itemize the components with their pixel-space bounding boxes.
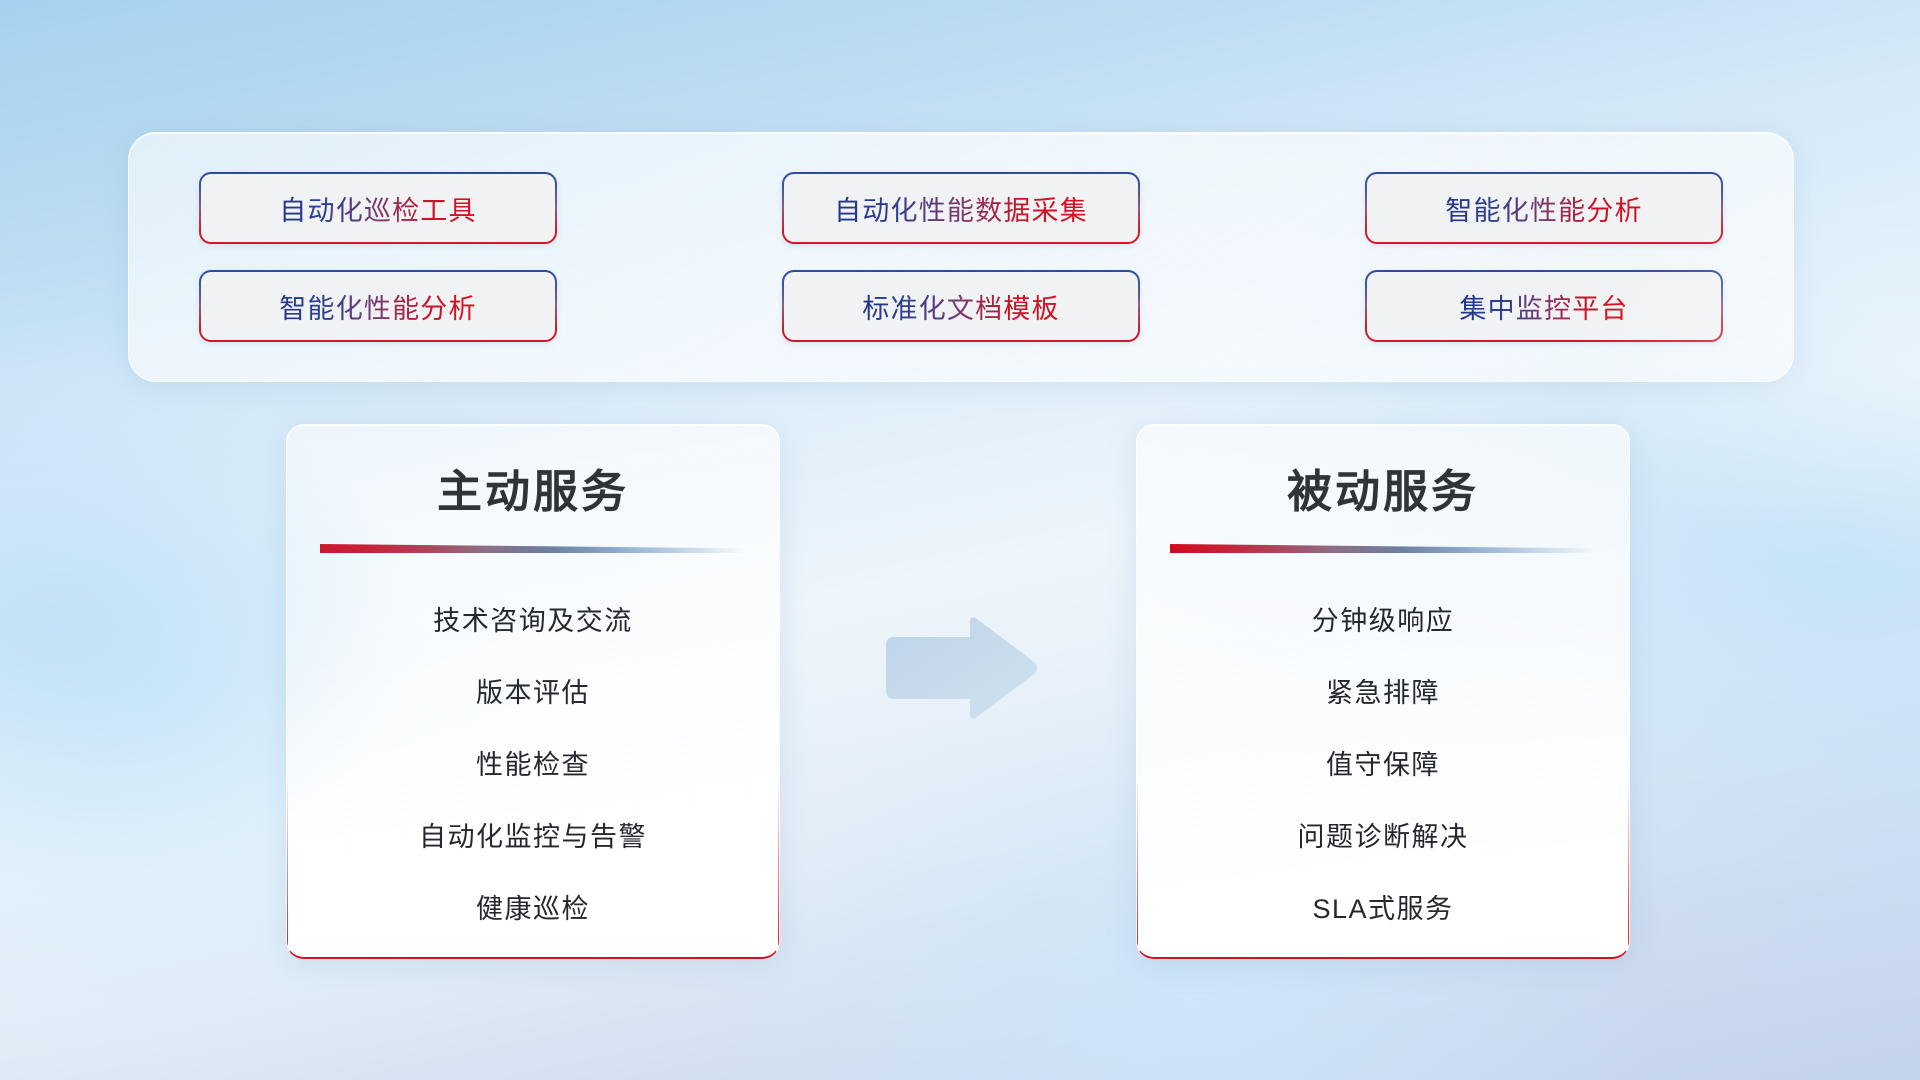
capability-pill-label: 自动化性能数据采集 (834, 189, 1088, 228)
capability-pill-label: 智能化性能分析 (1445, 189, 1642, 228)
capability-pill-inner: 自动化性能数据采集 (784, 174, 1138, 242)
service-card-title: 被动服务 (1137, 455, 1629, 520)
capability-pill-intelligent-perf-analysis-2[interactable]: 智能化性能分析 (199, 270, 557, 342)
capability-pill-auto-inspection-tool[interactable]: 自动化巡检工具 (199, 172, 557, 244)
list-item[interactable]: 自动化监控与告警 (287, 801, 779, 873)
capability-pill-intelligent-perf-analysis[interactable]: 智能化性能分析 (1365, 172, 1723, 244)
service-card-title: 主动服务 (287, 455, 779, 520)
capability-pill-inner: 标准化文档模板 (784, 272, 1138, 340)
title-underline-rule (320, 542, 746, 553)
capability-row-1: 自动化巡检工具 自动化性能数据采集 智能化性能分析 (199, 172, 1723, 244)
title-underline-rule (1170, 542, 1596, 553)
capability-row-2: 智能化性能分析 标准化文档模板 集中监控平台 (199, 270, 1723, 342)
list-item[interactable]: 技术咨询及交流 (287, 585, 779, 657)
service-card-reactive: 被动服务 分钟级响应 紧急排障 值守保障 问题诊断解决 SLA式服务 (1136, 424, 1630, 959)
arrow-right-icon (878, 613, 1040, 723)
service-item-list: 技术咨询及交流 版本评估 性能检查 自动化监控与告警 健康巡检 (287, 585, 779, 945)
list-item[interactable]: SLA式服务 (1137, 873, 1629, 945)
list-item[interactable]: 问题诊断解决 (1137, 801, 1629, 873)
capability-pill-label: 智能化性能分析 (279, 287, 476, 326)
list-item[interactable]: 健康巡检 (287, 873, 779, 945)
list-item[interactable]: 分钟级响应 (1137, 585, 1629, 657)
service-card-proactive: 主动服务 技术咨询及交流 版本评估 性能检查 自动化监控与告警 健康巡检 (286, 424, 780, 959)
capability-pill-auto-perf-data-collection[interactable]: 自动化性能数据采集 (782, 172, 1140, 244)
infographic-stage: 自动化巡检工具 自动化性能数据采集 智能化性能分析 智能化性能分析 (0, 0, 1920, 1080)
list-item[interactable]: 值守保障 (1137, 729, 1629, 801)
capability-pill-inner: 智能化性能分析 (1367, 174, 1721, 242)
list-item[interactable]: 性能检查 (287, 729, 779, 801)
capability-pill-central-monitoring-platform[interactable]: 集中监控平台 (1365, 270, 1723, 342)
capability-pill-inner: 智能化性能分析 (201, 272, 555, 340)
capability-pill-label: 标准化文档模板 (862, 287, 1059, 326)
capability-panel: 自动化巡检工具 自动化性能数据采集 智能化性能分析 智能化性能分析 (128, 132, 1794, 382)
capability-pill-standard-doc-template[interactable]: 标准化文档模板 (782, 270, 1140, 342)
list-item[interactable]: 紧急排障 (1137, 657, 1629, 729)
list-item[interactable]: 版本评估 (287, 657, 779, 729)
capability-pill-label: 集中监控平台 (1459, 287, 1628, 326)
capability-pill-inner: 自动化巡检工具 (201, 174, 555, 242)
service-item-list: 分钟级响应 紧急排障 值守保障 问题诊断解决 SLA式服务 (1137, 585, 1629, 945)
capability-pill-label: 自动化巡检工具 (279, 189, 476, 228)
capability-pill-inner: 集中监控平台 (1367, 272, 1721, 340)
